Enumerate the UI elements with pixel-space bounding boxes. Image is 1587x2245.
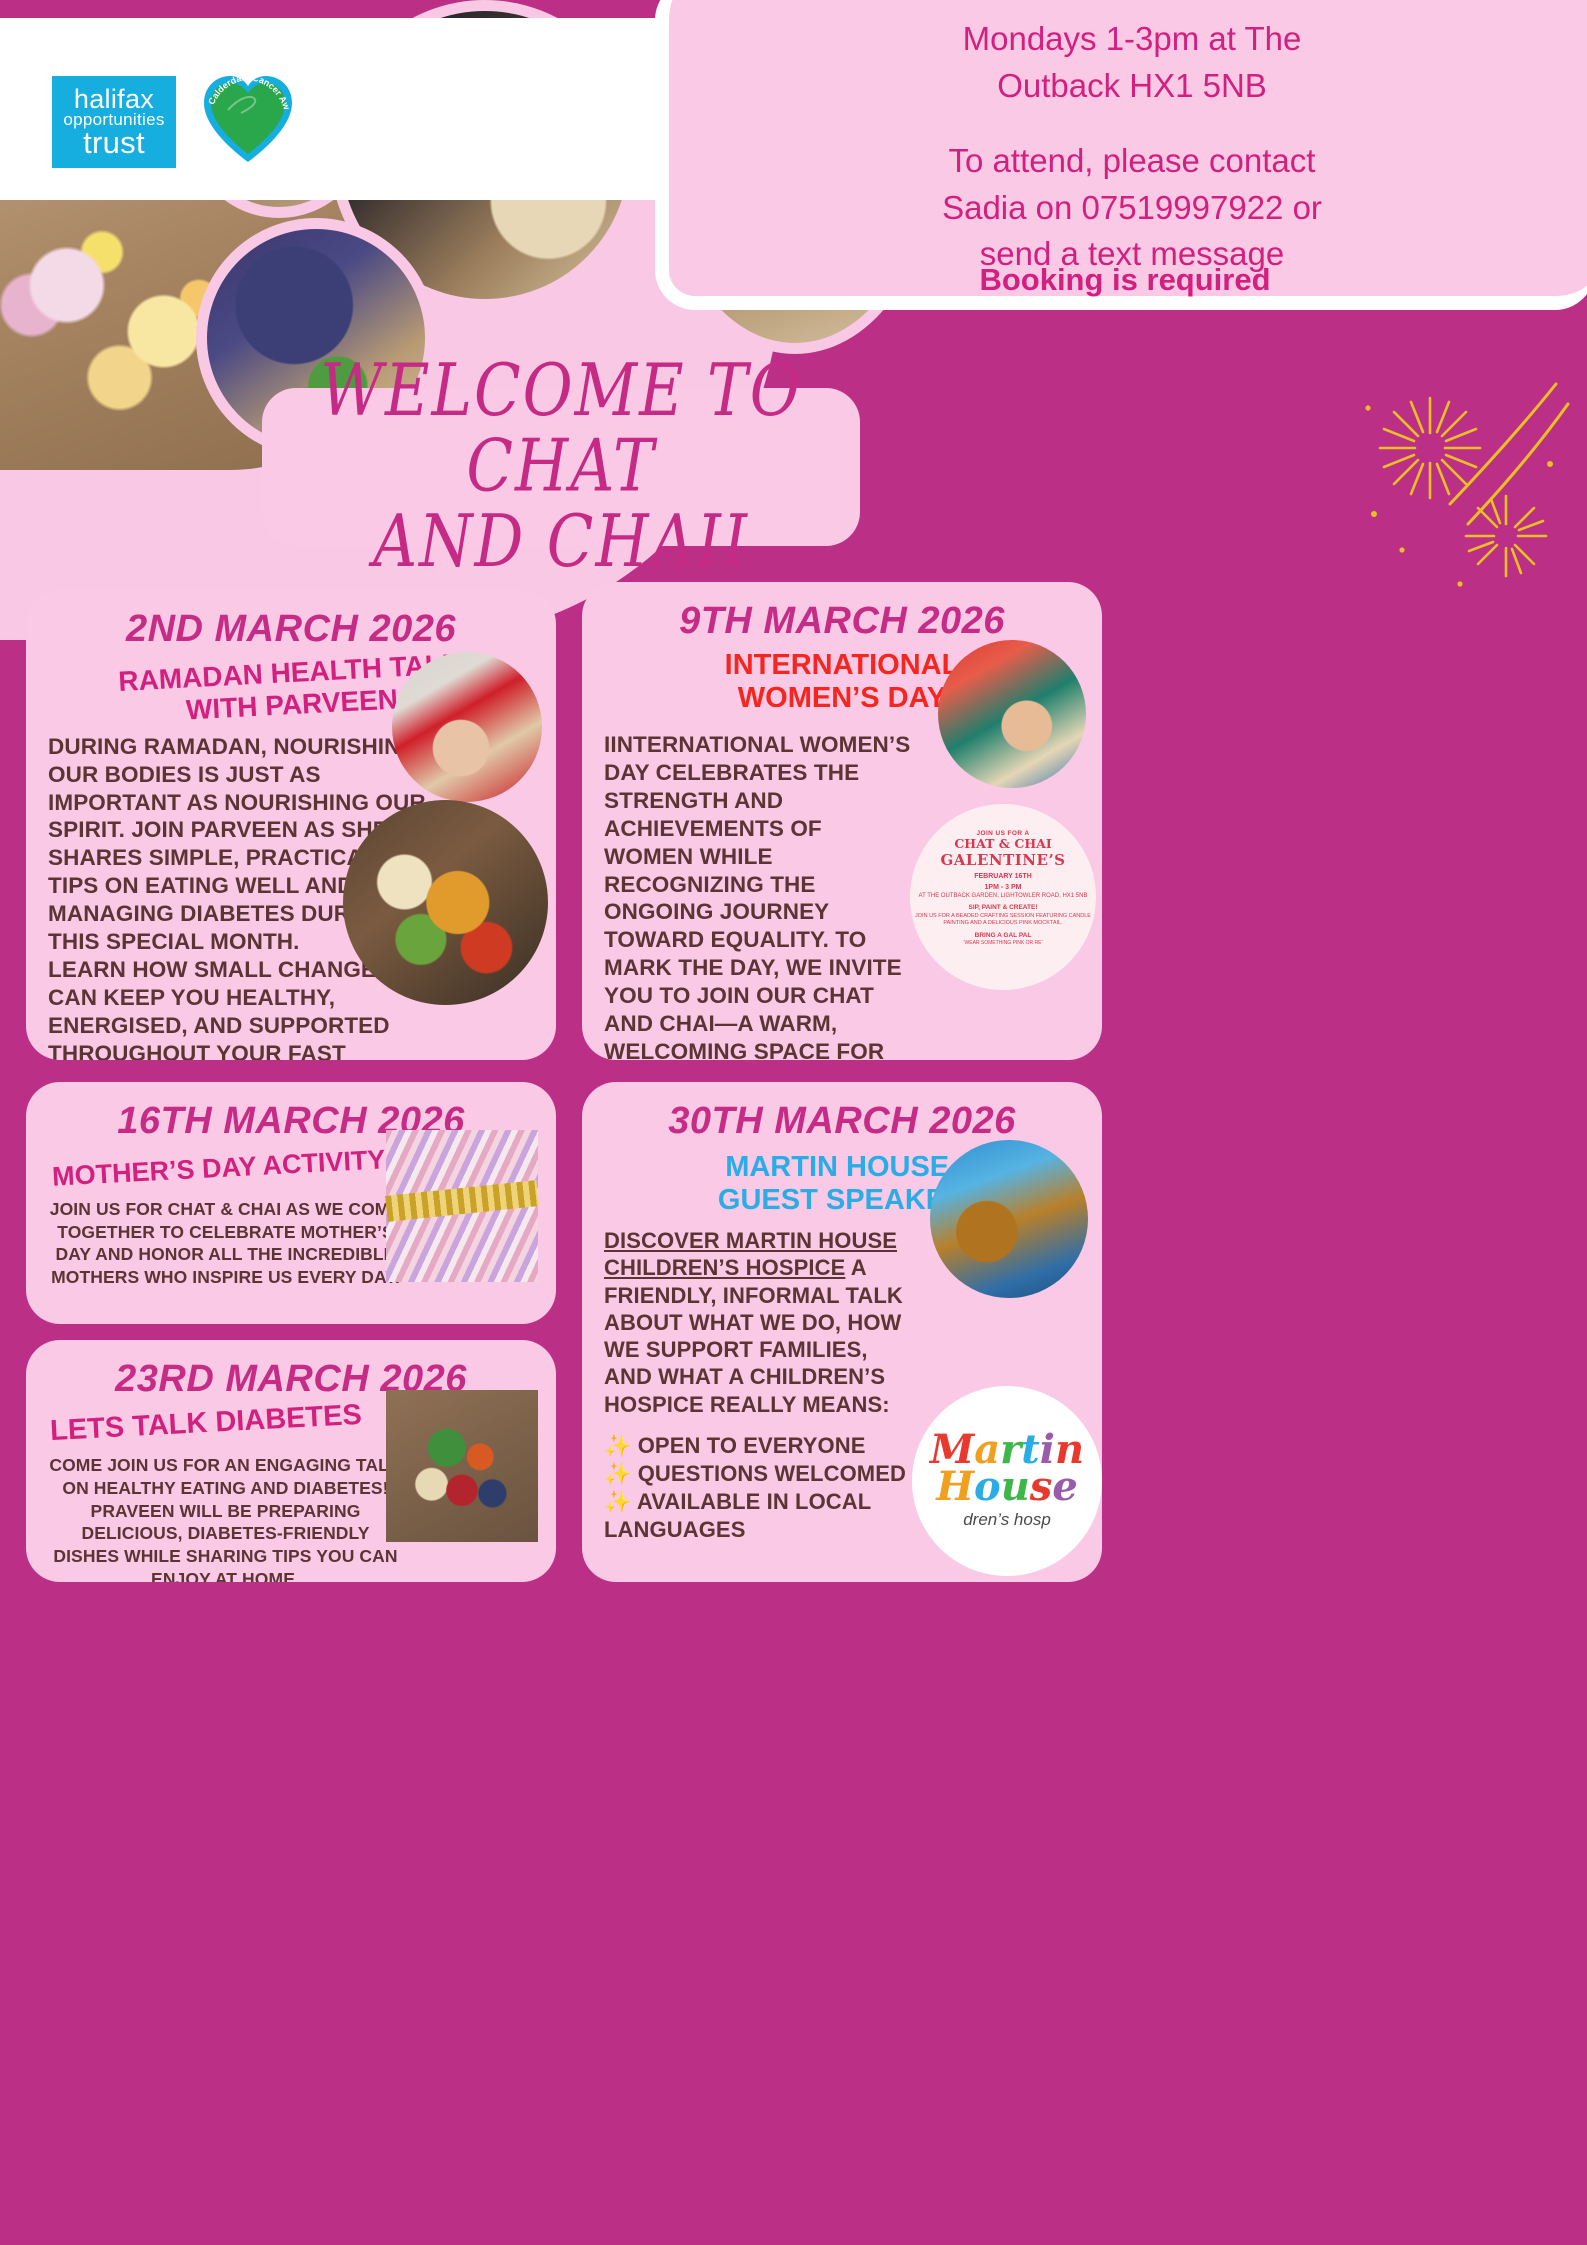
photo-heart-shaped-healthy-food — [386, 1390, 538, 1542]
logo-line-1: halifax — [74, 86, 154, 112]
logo-panel: halifax opportunities trust Calderdale C… — [0, 18, 700, 200]
galentine-line-9: BRING A GAL PAL — [975, 932, 1032, 939]
event-body-part-2: LEARN HOW SMALL CHANGES CAN KEEP YOU HEA… — [48, 957, 391, 1060]
event-subtitle-line-2: GUEST SPEAKER — [718, 1184, 966, 1216]
bullet-label: AVAILABLE IN LOCAL LANGUAGES — [604, 1489, 871, 1542]
photo-curry-dish — [343, 800, 548, 1005]
galentine-line-4: FEBRUARY 16TH — [974, 873, 1032, 880]
firework-decoration-right — [1310, 368, 1580, 608]
event-subtitle-line-1: MARTIN HOUSE- — [725, 1151, 959, 1183]
contact-line-2: Outback HX1 5NB — [703, 63, 1561, 110]
event-body: DISCOVER MARTIN HOUSE CHILDREN’S HOSPICE… — [604, 1227, 914, 1544]
martin-house-logo-line-3: dren’s hosp — [963, 1510, 1051, 1530]
galentine-line-8: JOIN US FOR A BEADED CRAFTING SESSION FE… — [910, 913, 1096, 927]
bullet-item: ✨ OPEN TO EVERYONE — [604, 1432, 914, 1460]
booking-required-note: Booking is required — [655, 262, 1587, 298]
event-subtitle-line-1: MOTHER’S DAY ACTIVITY — [51, 1144, 386, 1192]
page-title: WELCOME TO CHAT AND CHAII — [262, 354, 860, 581]
event-date: 9TH MARCH 2026 — [604, 600, 1080, 643]
event-date: 30TH MARCH 2026 — [604, 1100, 1080, 1143]
photo-friendship-bracelets — [386, 1130, 538, 1282]
event-body: IINTERNATIONAL WOMEN’S DAY CELEBRATES TH… — [604, 731, 914, 1060]
galentine-line-6: AT THE OUTBACK GARDEN, LIGHTOWLER ROAD, … — [919, 893, 1088, 901]
poster-title-banner: WELCOME TO CHAT AND CHAII — [262, 388, 860, 546]
galentines-flyer-graphic: JOIN US FOR A CHAT & CHAI GALENTINE’S FE… — [910, 804, 1096, 990]
event-card-9th-march[interactable]: 9TH MARCH 2026 INTERNATIONAL WOMEN’S DAY… — [582, 582, 1102, 1060]
photo-martin-house-mascot-team — [930, 1140, 1088, 1298]
halifax-opportunities-trust-logo: halifax opportunities trust — [52, 76, 176, 168]
sparkle-icon: ✨ — [604, 1489, 632, 1514]
galentine-line-7: SIP, PAINT & CREATE! — [969, 904, 1038, 911]
logo-line-3: trust — [83, 128, 145, 158]
event-card-2nd-march[interactable]: 2ND MARCH 2026 RAMADAN HEALTH TALK WITH … — [26, 590, 556, 1060]
title-line-1: WELCOME TO CHAT — [262, 354, 860, 505]
martin-house-logo: Martin House dren’s hosp — [912, 1386, 1102, 1576]
event-bullet-list: ✨ OPEN TO EVERYONE ✨ QUESTIONS WELCOMED … — [604, 1432, 914, 1545]
event-subtitle-line-1: INTERNATIONAL — [725, 649, 960, 681]
calderdale-cancer-aware-heart-icon: Calderdale Cancer Aware — [198, 70, 298, 170]
bullet-label: QUESTIONS WELCOMED — [638, 1461, 906, 1486]
galentine-line-3: GALENTINE’S — [940, 851, 1065, 869]
sparkle-icon: ✨ — [604, 1461, 632, 1486]
bullet-label: OPEN TO EVERYONE — [638, 1433, 866, 1458]
galentine-line-10: ‘WEAR SOMETHING PINK OR RE’ — [963, 940, 1042, 946]
event-card-16th-march[interactable]: 16TH MARCH 2026 MOTHER’S DAY ACTIVITY JO… — [26, 1082, 556, 1324]
event-body: COME JOIN US FOR AN ENGAGING TALK ON HEA… — [48, 1454, 403, 1582]
event-card-30th-march[interactable]: 30TH MARCH 2026 MARTIN HOUSE- GUEST SPEA… — [582, 1082, 1102, 1582]
martin-house-logo-line-2: House — [936, 1469, 1078, 1506]
event-body: JOIN US FOR CHAT & CHAI AS WE COME TOGET… — [48, 1198, 403, 1289]
photo-woman-red-hijab — [392, 652, 542, 802]
bullet-item: ✨ AVAILABLE IN LOCAL LANGUAGES — [604, 1488, 914, 1544]
bullet-item: ✨ QUESTIONS WELCOMED — [604, 1460, 914, 1488]
contact-line-3: To attend, please contact — [703, 138, 1561, 185]
photo-women-embracing — [938, 640, 1086, 788]
contact-line-4: Sadia on 07519997922 or — [703, 185, 1561, 232]
event-subtitle-line-2: WOMEN’S DAY — [738, 682, 946, 714]
galentine-line-2: CHAT & CHAI — [954, 837, 1051, 851]
contact-line-1: Mondays 1-3pm at The — [703, 16, 1561, 63]
sparkle-icon: ✨ — [604, 1433, 632, 1458]
event-card-23rd-march[interactable]: 23RD MARCH 2026 LETS TALK DIABETES COME … — [26, 1340, 556, 1582]
title-line-2: AND CHAII — [262, 505, 860, 581]
event-date: 2ND MARCH 2026 — [48, 608, 534, 651]
galentine-line-5: 1PM - 3 PM — [985, 884, 1022, 891]
event-subtitle-line-1: LETS TALK DIABETES — [49, 1399, 362, 1448]
